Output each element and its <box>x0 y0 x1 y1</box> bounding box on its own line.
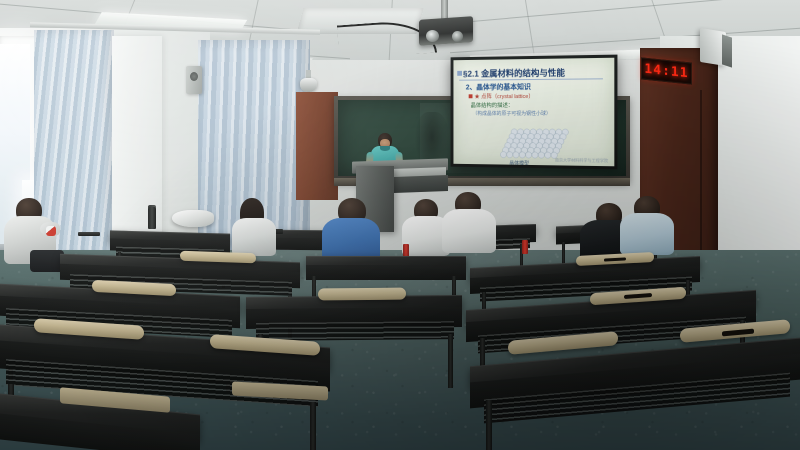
desk-front-panel <box>306 265 466 280</box>
desk-leg <box>486 400 492 450</box>
slide-bullet-icon <box>469 94 473 98</box>
slide-subheading-1: 2、晶体学的基本知识 <box>466 82 531 92</box>
chair-back <box>318 288 406 301</box>
black-thermos[interactable] <box>148 207 156 229</box>
projection-screen: §2.1 金属材料的结构与性能 2、晶体学的基本知识 ★ 点阵（crystal … <box>451 55 618 170</box>
slide-title: §2.1 金属材料的结构与性能 <box>463 67 565 80</box>
white-jacket[interactable] <box>172 210 214 227</box>
slide-subheading-4: （构成晶体的原子可视为钢性小球） <box>473 110 551 117</box>
projector-lens <box>452 31 463 42</box>
classroom-photo-scene: 14:11 §2.1 金属材料的结构与性能 2、晶体学的基本知识 ★ 点阵（cr… <box>0 0 800 450</box>
slide-figure-caption: 晶体模型 <box>509 160 529 167</box>
handheld-item[interactable] <box>46 226 56 236</box>
slide-title-underline <box>459 78 603 80</box>
desk-leg <box>448 334 453 388</box>
student-lower-body <box>30 250 64 272</box>
presenter-collar <box>380 146 390 151</box>
slide-subheading-3: 晶体结构的描述： <box>471 101 514 109</box>
speaker-cone <box>190 72 198 81</box>
desk-leg <box>310 402 316 450</box>
red-bottle[interactable] <box>522 240 528 254</box>
desk-shelf <box>256 321 454 341</box>
clock-time-text: 14:11 <box>644 61 688 81</box>
wood-wall-panel <box>296 92 338 200</box>
lectern-side <box>394 175 448 193</box>
student-torso-white-shirt <box>442 209 496 253</box>
security-camera-icon <box>300 78 317 92</box>
student-torso-white-blouse <box>232 218 276 256</box>
phone-on-desk[interactable] <box>78 232 100 236</box>
projector-lens <box>426 30 439 42</box>
speaker-side <box>722 34 732 67</box>
slide-subheading-2: ★ 点阵（crystal lattice） <box>474 92 533 100</box>
slide-bullet-icon <box>457 71 462 76</box>
slide-surface: §2.1 金属材料的结构与性能 2、晶体学的基本知识 ★ 点阵（crystal … <box>453 58 614 167</box>
student-torso-lightblue-polo <box>620 213 674 255</box>
slide-footer: 南京大学材料科学与工程学院 <box>555 157 608 164</box>
